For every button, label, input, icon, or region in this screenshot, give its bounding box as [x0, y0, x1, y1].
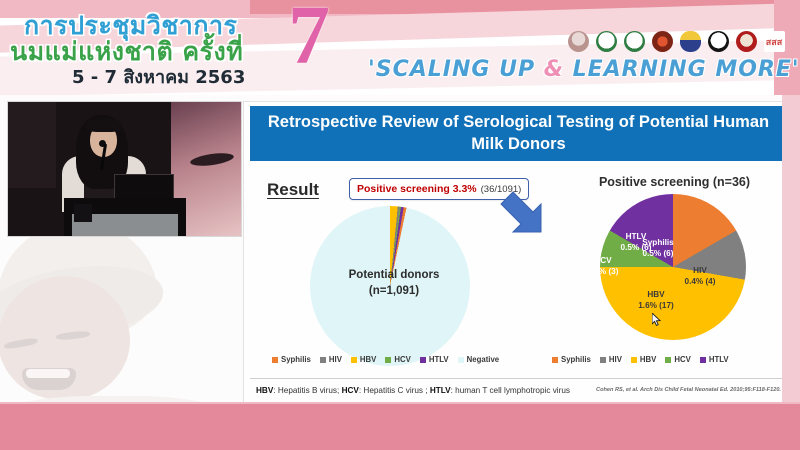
logo-thaihealth-sss-icon: สสส — [762, 22, 786, 52]
slice-label-hbv-value: 1.6% (17) — [620, 301, 692, 312]
abbr-hcv-def: : Hepatitis C virus ; — [359, 386, 430, 395]
presentation-slide[interactable]: Retrospective Review of Serological Test… — [243, 101, 794, 406]
logo-university-icon — [706, 22, 730, 52]
conference-tagline: 'SCALING UP & LEARNING MORE' — [368, 57, 800, 82]
legend-item-hiv: HIV — [320, 355, 342, 364]
legend-label-syphilis: Syphilis — [281, 355, 311, 364]
bottom-pink-strip — [0, 404, 800, 450]
legend-item-hiv-right: HIV — [600, 355, 622, 364]
legend-swatch-negative — [458, 357, 464, 363]
abbreviations-text: HBV: Hepatitis B virus; HCV: Hepatitis C… — [256, 386, 570, 395]
abbr-hcv: HCV — [342, 386, 359, 395]
legend-item-hbv: HBV — [351, 355, 376, 364]
callout-percent: Positive screening 3.3% — [357, 183, 477, 195]
legend-swatch-hiv-right — [600, 357, 606, 363]
legend-label-htlv-right: HTLV — [709, 355, 729, 364]
slide-viewer-stage: การประชุมวิชาการ นมแม่แห่งชาติ ครั้งที่ … — [0, 0, 800, 450]
conference-date: 5 - 7 สิงหาคม 2563 — [72, 62, 245, 91]
logo-medical-council-icon — [622, 22, 646, 52]
potential-donors-label-line2: (n=1,091) — [288, 284, 500, 300]
citation-text: Cohen RS, et al. Arch Dis Child Fetal Ne… — [596, 387, 781, 393]
slide-footnote: HBV: Hepatitis B virus; HCV: Hepatitis C… — [250, 378, 787, 401]
slice-label-hcv: HCV 0.3% (3) — [580, 256, 626, 277]
legend-label-syphilis-right: Syphilis — [561, 355, 591, 364]
legend-swatch-hbv-right — [631, 357, 637, 363]
logo-ministry-public-health-icon — [650, 22, 674, 52]
potential-donors-center-label: Potential donors (n=1,091) — [288, 268, 500, 299]
legend-label-hiv-right: HIV — [609, 355, 622, 364]
slice-label-hbv-name: HBV — [620, 290, 692, 301]
legend-swatch-syphilis-right — [552, 357, 558, 363]
legend-swatch-hcv-right — [665, 357, 671, 363]
legend-label-hcv-right: HCV — [674, 355, 690, 364]
legend-label-hiv: HIV — [329, 355, 342, 364]
legend-label-hcv: HCV — [394, 355, 410, 364]
legend-item-htlv: HTLV — [420, 355, 449, 364]
slice-label-hcv-value: 0.3% (3) — [580, 267, 626, 278]
potential-donors-label-line1: Potential donors — [288, 268, 500, 284]
legend-label-hbv-right: HBV — [640, 355, 656, 364]
legend-item-syphilis-right: Syphilis — [552, 355, 591, 364]
right-pink-strip — [782, 95, 800, 404]
slice-label-hcv-name: HCV — [580, 256, 626, 267]
mouse-cursor-icon — [652, 313, 661, 326]
legend-item-hcv-right: HCV — [665, 355, 690, 364]
positive-screening-chart-title: Positive screening (n=36) — [562, 175, 787, 189]
slice-label-htlv-name: HTLV — [610, 232, 662, 243]
slide-title: Retrospective Review of Serological Test… — [250, 106, 787, 161]
logo-royal-seal-icon — [566, 22, 590, 52]
legend-item-hbv-right: HBV — [631, 355, 656, 364]
legend-swatch-hcv — [385, 357, 391, 363]
slice-label-htlv: HTLV 0.5% (6) — [610, 232, 662, 253]
tagline-ampersand: & — [544, 57, 564, 82]
blue-arrow-icon — [499, 190, 545, 236]
legend-swatch-hbv — [351, 357, 357, 363]
background-child-photo-watermark — [0, 228, 246, 428]
potential-donors-chart[interactable]: Potential donors (n=1,091) — [288, 206, 500, 366]
legend-label-hbv: HBV — [360, 355, 376, 364]
conference-header-banner: การประชุมวิชาการ นมแม่แห่งชาติ ครั้งที่ … — [0, 0, 800, 95]
tagline-part2: LEARNING MORE' — [564, 57, 800, 82]
positive-screening-chart[interactable]: Syphilis 0.5% (6) HIV 0.4% (4) HBV 1.6% … — [578, 194, 768, 362]
legend-swatch-syphilis — [272, 357, 278, 363]
legend-swatch-hiv — [320, 357, 326, 363]
abbr-hbv: HBV — [256, 386, 273, 395]
legend-swatch-htlv — [420, 357, 426, 363]
sponsor-logos-row: สสส — [566, 22, 786, 52]
legend-item-syphilis: Syphilis — [272, 355, 311, 364]
slice-label-hiv: HIV 0.4% (4) — [674, 266, 726, 287]
abbr-hbv-def: : Hepatitis B virus; — [273, 386, 341, 395]
abbr-htlv: HTLV — [430, 386, 451, 395]
slice-label-hbv: HBV 1.6% (17) — [620, 290, 692, 311]
abbr-htlv-def: : human T cell lymphotropic virus — [451, 386, 570, 395]
legend-item-negative: Negative — [458, 355, 500, 364]
speaker-video-thumbnail[interactable] — [7, 101, 242, 237]
slice-label-htlv-value: 0.5% (6) — [610, 243, 662, 254]
positive-screening-legend: Syphilis HIV HBV HCV HTLV — [552, 355, 729, 364]
legend-item-htlv-right: HTLV — [700, 355, 729, 364]
legend-label-negative: Negative — [467, 355, 500, 364]
tagline-part1: 'SCALING UP — [368, 57, 544, 82]
slice-label-hiv-name: HIV — [674, 266, 726, 277]
legend-swatch-htlv-right — [700, 357, 706, 363]
legend-label-htlv: HTLV — [429, 355, 449, 364]
potential-donors-legend: Syphilis HIV HBV HCV HTLV Negative — [272, 355, 499, 364]
result-heading: Result — [267, 180, 319, 200]
logo-red-cross-seal-icon — [734, 22, 758, 52]
logo-royal-crest-icon — [678, 22, 702, 52]
logo-pediatric-society-icon — [594, 22, 618, 52]
legend-item-hcv: HCV — [385, 355, 410, 364]
conference-edition-number: 7 — [288, 0, 330, 78]
slice-label-hiv-value: 0.4% (4) — [674, 277, 726, 288]
